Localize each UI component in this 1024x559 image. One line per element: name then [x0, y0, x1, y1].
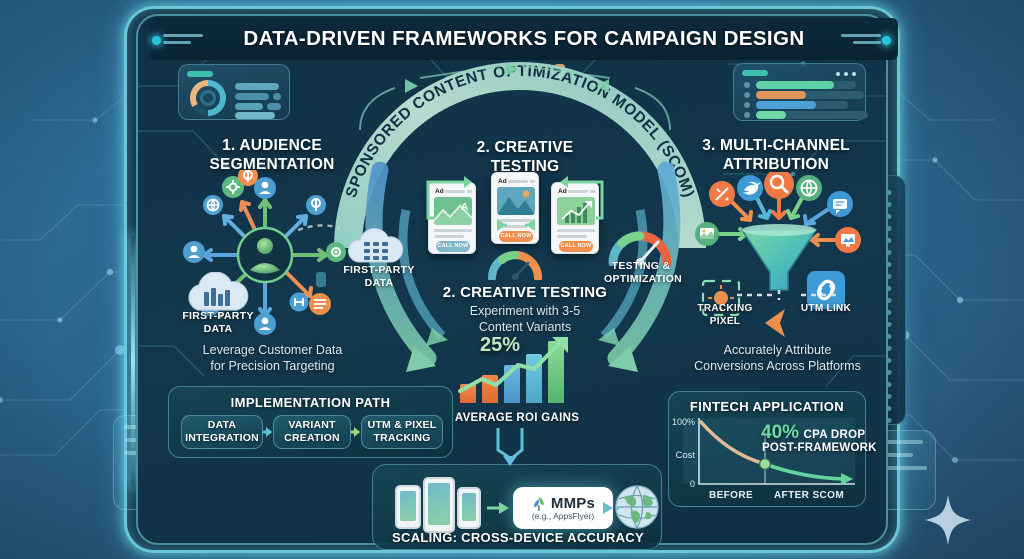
device-phone-left: [395, 485, 421, 529]
impl-step-2-line2: CREATION: [284, 432, 340, 444]
attribution-heading: 3. MULTI-CHANNEL ATTRIBUTION: [680, 136, 872, 174]
fintech-y-bottom: 0: [690, 479, 695, 489]
scaling-box: MMPs (e.g., AppsFlyer) SCALING: CROSS-DE…: [372, 464, 662, 550]
mmp-title: MMPs: [551, 495, 595, 512]
more-dots-icon[interactable]: [835, 71, 857, 77]
left-cloud-label-line1: FIRST-PARTY: [182, 310, 253, 322]
funnel-output-arrow: [755, 305, 795, 341]
device-tablet: [423, 477, 455, 533]
impl-step-3-line1: UTM & PIXEL: [368, 419, 437, 431]
fintech-application-box: FINTECH APPLICATION 100% Cost 0 BEFORE A…: [668, 391, 866, 507]
attribution-caption: Accurately Attribute Conversions Across …: [685, 342, 870, 374]
attribution-caption-line1: Accurately Attribute: [724, 343, 832, 357]
fintech-stat-sub: POST-FRAMEWORK: [762, 442, 877, 454]
creative-testing-subheading: 2. CREATIVE TESTING: [420, 283, 630, 302]
infographic-canvas: DATA-DRIVEN FRAMEWORKS FOR CAMPAIGN DESI…: [0, 0, 1024, 559]
fintech-stat-value: 40%: [761, 422, 799, 443]
impl-step-2[interactable]: VARIANT CREATION: [273, 415, 351, 449]
page-title: DATA-DRIVEN FRAMEWORKS FOR CAMPAIGN DESI…: [243, 27, 804, 51]
title-dot-right: [882, 36, 891, 45]
implementation-path-title: IMPLEMENTATION PATH: [169, 395, 452, 410]
leaf-icon: [531, 496, 547, 512]
segmentation-caption-line2: for Precision Targeting: [210, 359, 334, 373]
mmp-subtitle: (e.g., AppsFlyer): [532, 511, 594, 521]
scaling-caption: SCALING: CROSS-DEVICE ACCURACY: [373, 531, 663, 544]
widget-line: [267, 103, 281, 110]
widget-header-chip: [742, 70, 768, 76]
left-cloud-label-line2: DATA: [204, 323, 233, 335]
fintech-x-left: BEFORE: [709, 490, 753, 501]
pixel-utm-connectors: [735, 288, 845, 302]
dashboard-widget-donut[interactable]: [178, 64, 290, 120]
donut-chart-icon: [187, 77, 229, 119]
creative-testing-sub-line2: Content Variants: [479, 320, 571, 334]
widget-line: [273, 93, 281, 100]
center-cloud-label: FIRST-PARTY DATA: [335, 264, 423, 290]
segmentation-caption-line1: Leverage Customer Data: [203, 343, 343, 357]
impl-step-3-line2: TRACKING: [373, 432, 430, 444]
roi-caption: AVERAGE ROI GAINS: [445, 412, 589, 425]
attribution-heading-line1: 3. MULTI-CHANNEL: [702, 137, 850, 154]
creative-testing-sub-line1: Experiment with 3-5: [470, 304, 580, 318]
segmentation-caption: Leverage Customer Data for Precision Tar…: [180, 342, 365, 374]
impl-step-2-line1: VARIANT: [288, 419, 335, 431]
impl-step-1-line1: DATA: [208, 419, 236, 431]
gauge-icon-center: [488, 248, 542, 280]
device-phone-right: [457, 487, 481, 529]
impl-step-1-line2: INTEGRATION: [185, 432, 259, 444]
segmentation-heading-line1: 1. AUDIENCE: [222, 137, 322, 154]
left-cloud-label: FIRST-PARTY DATA: [168, 310, 268, 336]
dashboard-widget-progress[interactable]: [733, 63, 866, 121]
globe-icon: [613, 483, 661, 531]
roi-percentage: 25%: [480, 334, 520, 357]
fintech-y-top: 100%: [672, 417, 695, 427]
widget-line: [235, 103, 263, 110]
impl-step-3[interactable]: UTM & PIXEL TRACKING: [361, 415, 443, 449]
impl-step-1[interactable]: DATA INTEGRATION: [181, 415, 263, 449]
widget-line: [235, 83, 279, 90]
utm-link-label: UTM LINK: [788, 302, 864, 315]
segmentation-heading: 1. AUDIENCE SEGMENTATION: [178, 136, 366, 174]
attribution-caption-line2: Conversions Across Platforms: [694, 359, 861, 373]
title-deco-left: [163, 34, 203, 48]
attribution-heading-line2: ATTRIBUTION: [723, 156, 829, 173]
title-deco-right: [841, 34, 881, 48]
fintech-stat-label: CPA DROP: [803, 429, 865, 441]
center-cloud-label-line1: FIRST-PARTY: [343, 264, 414, 276]
fintech-x-right: AFTER SCOM: [774, 490, 844, 501]
fintech-y-mid: Cost: [675, 450, 695, 461]
implementation-path-box: IMPLEMENTATION PATH DATA INTEGRATION VAR…: [168, 386, 453, 458]
center-cloud-label-line2: DATA: [365, 277, 394, 289]
creative-testing-sub-caption: Experiment with 3-5 Content Variants: [430, 303, 620, 335]
title-dot-left: [152, 36, 161, 45]
widget-line: [235, 112, 275, 119]
fintech-stat-row: 40% CPA DROP: [761, 422, 865, 444]
mmp-card[interactable]: MMPs (e.g., AppsFlyer): [513, 487, 613, 529]
center-to-scaling-arrow: [480, 428, 540, 470]
widget-line: [235, 93, 269, 100]
testing-optimization-line1: TESTING &: [612, 260, 671, 272]
